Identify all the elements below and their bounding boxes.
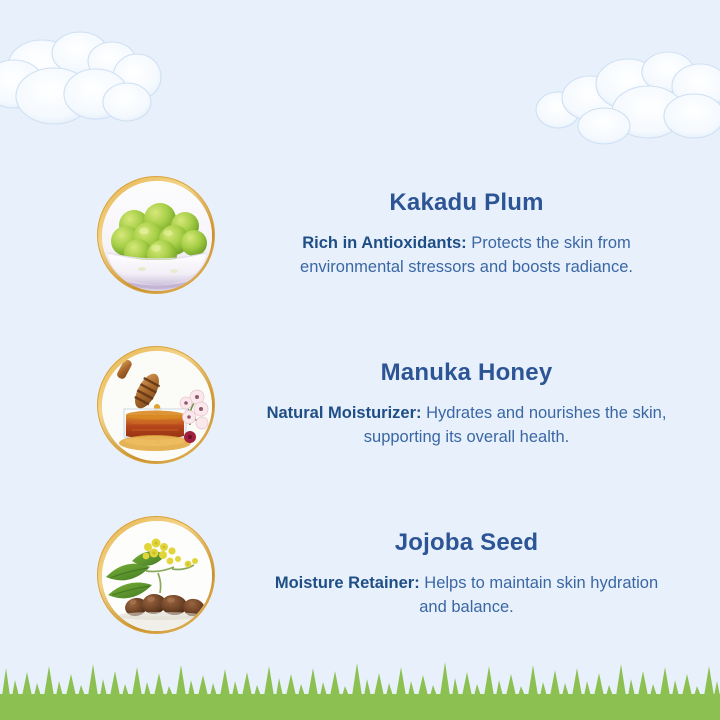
photo-jojoba bbox=[102, 521, 212, 631]
photo-honey bbox=[102, 351, 212, 461]
ingredient-image-jojoba-seed bbox=[97, 516, 215, 634]
grass-band bbox=[0, 650, 720, 720]
ingredient-title: Kakadu Plum bbox=[241, 190, 692, 216]
ingredient-copy: Manuka Honey Natural Moisturizer: Hydrat… bbox=[215, 360, 720, 449]
ingredient-description: Moisture Retainer: Helps to maintain ski… bbox=[267, 571, 667, 620]
gold-ring bbox=[97, 176, 215, 294]
benefit-label: Natural Moisturizer: bbox=[267, 404, 422, 422]
ingredient-row: Kakadu Plum Rich in Antioxidants: Protec… bbox=[0, 150, 720, 320]
ingredient-list: Kakadu Plum Rich in Antioxidants: Protec… bbox=[0, 150, 720, 660]
ingredient-copy: Kakadu Plum Rich in Antioxidants: Protec… bbox=[215, 190, 720, 279]
cloud-icon bbox=[528, 48, 720, 158]
benefit-text: Helps to maintain skin hydration and bal… bbox=[419, 574, 658, 616]
gold-ring bbox=[97, 516, 215, 634]
ingredient-row: Jojoba Seed Moisture Retainer: Helps to … bbox=[0, 490, 720, 660]
ingredient-description: Rich in Antioxidants: Protects the skin … bbox=[267, 231, 667, 280]
ingredient-copy: Jojoba Seed Moisture Retainer: Helps to … bbox=[215, 530, 720, 619]
ingredient-image-kakadu-plum bbox=[97, 176, 215, 294]
ingredients-poster: Kakadu Plum Rich in Antioxidants: Protec… bbox=[0, 0, 720, 720]
cloud-icon bbox=[0, 22, 214, 142]
ingredient-title: Manuka Honey bbox=[241, 360, 692, 386]
ingredient-description: Natural Moisturizer: Hydrates and nouris… bbox=[267, 401, 667, 450]
ingredient-row: Manuka Honey Natural Moisturizer: Hydrat… bbox=[0, 320, 720, 490]
benefit-label: Moisture Retainer: bbox=[275, 574, 420, 592]
benefit-label: Rich in Antioxidants: bbox=[302, 234, 466, 252]
ingredient-image-manuka-honey bbox=[97, 346, 215, 464]
photo-plums bbox=[102, 181, 212, 291]
gold-ring bbox=[97, 346, 215, 464]
ingredient-title: Jojoba Seed bbox=[241, 530, 692, 556]
